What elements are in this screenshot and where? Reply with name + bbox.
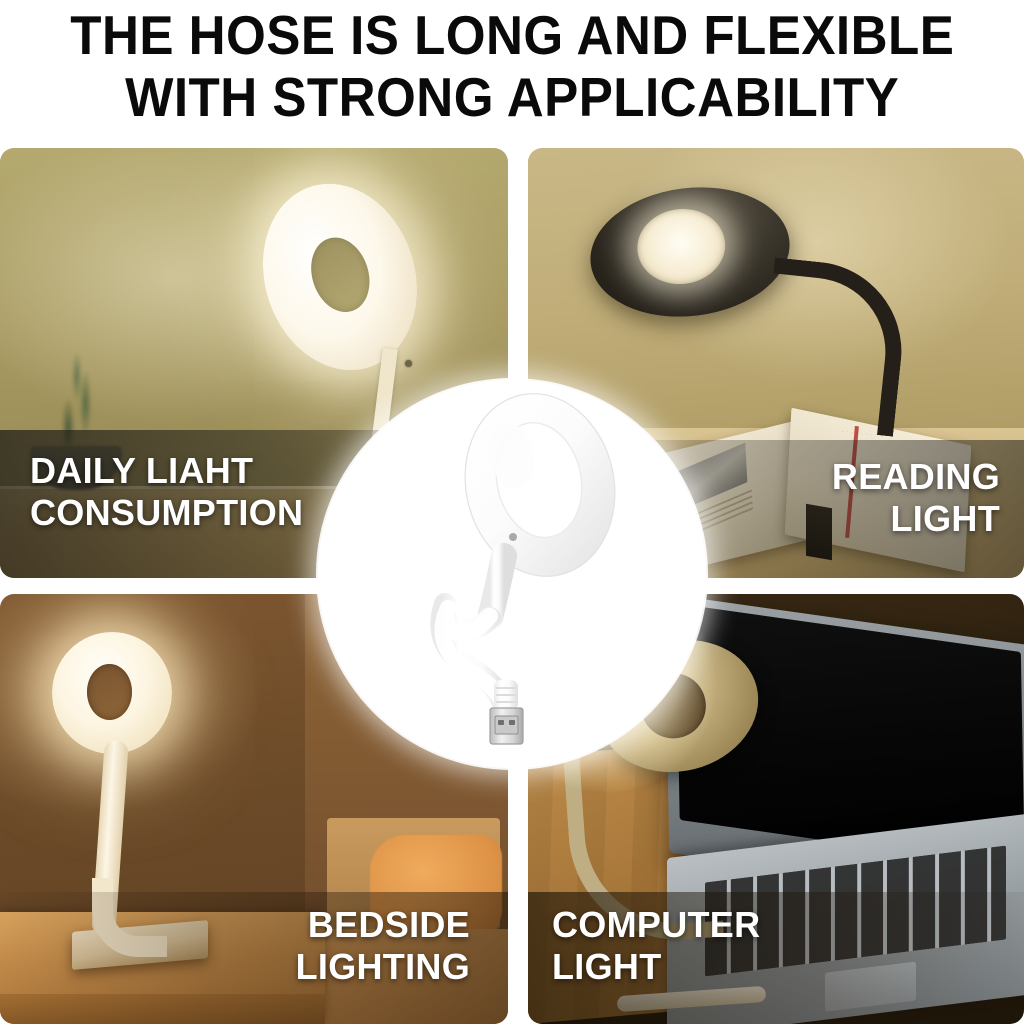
lamp-gooseneck [766,264,916,424]
hero-lamp-head [448,380,631,590]
hero-product-illustration [318,380,706,768]
panel-label-reading-light: READING LIGHT [832,456,1000,540]
hero-usb-plug [490,708,523,744]
panel-label-computer-light: COMPUTER LIGHT [552,904,760,988]
hero-product-circle [318,380,706,768]
plant-leaves [52,354,106,458]
panel-label-bedside-lighting: BEDSIDE LIGHTING [296,904,470,988]
headline-line-2: WITH STRONG APPLICABILITY [125,66,899,128]
white-ring-lamp [42,632,192,932]
panel-label-daily-light-consumption: DAILY LIAHT CONSUMPTION [30,450,303,534]
laptop-touchpad [825,961,915,1012]
lamp-ring-head-icon [583,176,797,327]
hero-power-button [509,533,517,541]
lamp-ring-head-icon [52,632,172,754]
headline: THE HOSE IS LONG AND FLEXIBLE WITH STRON… [0,0,1024,146]
lamp-power-button [405,360,412,367]
black-ring-lamp [580,176,910,406]
product-infographic: THE HOSE IS LONG AND FLEXIBLE WITH STRON… [0,0,1024,1024]
magazine-spine-shadow [806,504,832,561]
nightstand-edge [0,994,325,1024]
headline-line-1: THE HOSE IS LONG AND FLEXIBLE [70,4,954,66]
